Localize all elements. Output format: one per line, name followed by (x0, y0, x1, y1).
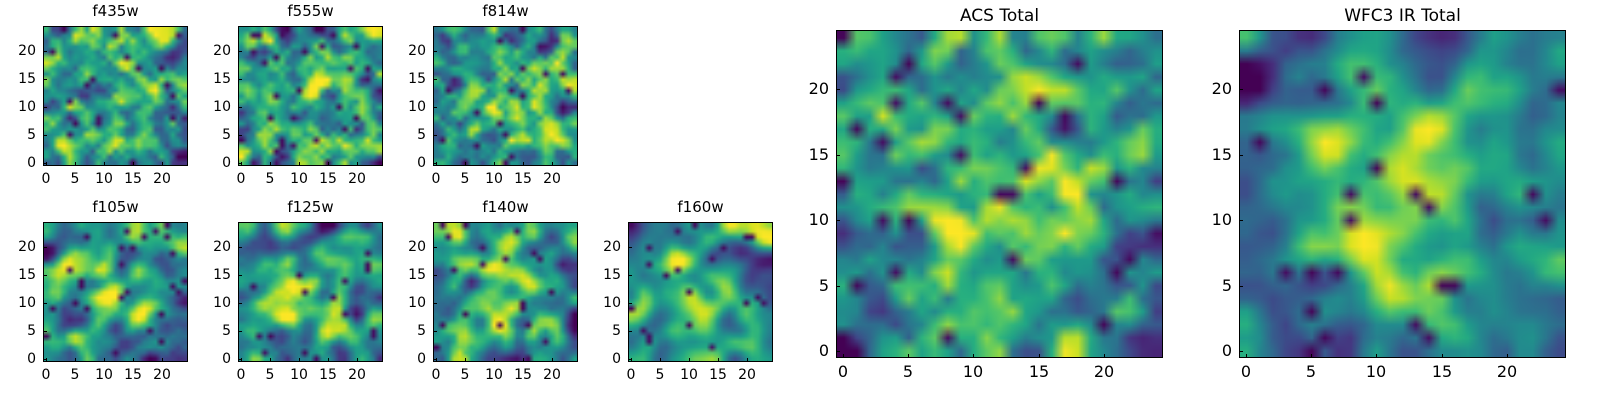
y-tick-label: 15 (588, 268, 621, 282)
panel-f125w: f125w0510152005101520 (198, 198, 383, 386)
y-tick (836, 89, 840, 90)
y-tick-label: 0 (393, 352, 426, 366)
x-tick-label: 15 (709, 368, 727, 382)
y-tick-label: 0 (3, 352, 36, 366)
y-tick (238, 331, 242, 332)
y-tick-label: 5 (3, 324, 36, 338)
y-tick (433, 275, 437, 276)
x-tick (523, 162, 524, 166)
panel-wfc3-ir-total: WFC3 IR Total0510152005101520 (1199, 6, 1566, 382)
y-tick-label: 20 (588, 240, 621, 254)
y-tick-label: 5 (393, 128, 426, 142)
x-tick-label: 10 (963, 364, 983, 380)
y-tick (43, 275, 47, 276)
panel-acs-total: ACS Total0510152005101520 (796, 6, 1163, 382)
heatmap-image-f105w (44, 223, 187, 361)
x-tick (1311, 354, 1312, 358)
heatmap-axes-f814w[interactable] (433, 26, 578, 166)
x-tick (1507, 354, 1508, 358)
x-tick (270, 162, 271, 166)
y-tick-label: 10 (1199, 212, 1232, 228)
x-tick-label: 0 (1241, 364, 1251, 380)
y-tick (433, 331, 437, 332)
x-tick-label: 15 (514, 172, 532, 186)
panel-title-f814w: f814w (433, 4, 578, 19)
x-tick (908, 354, 909, 358)
y-tick (43, 331, 47, 332)
y-tick (238, 275, 242, 276)
y-tick-label: 5 (3, 128, 36, 142)
x-tick-label: 10 (290, 368, 308, 382)
y-tick-label: 0 (3, 156, 36, 170)
x-tick-label: 20 (543, 172, 561, 186)
x-tick-label: 20 (348, 172, 366, 186)
y-tick-label: 5 (198, 324, 231, 338)
heatmap-image-f125w (239, 223, 382, 361)
x-tick (1246, 354, 1247, 358)
y-tick-label: 10 (393, 100, 426, 114)
x-tick (104, 358, 105, 362)
y-tick (433, 51, 437, 52)
panel-f555w: f555w0510152005101520 (198, 2, 383, 190)
y-tick (1239, 155, 1243, 156)
heatmap-axes-wfc3-ir-total[interactable] (1239, 30, 1566, 358)
x-tick (328, 162, 329, 166)
heatmap-image-f435w (44, 27, 187, 165)
y-tick-label: 0 (198, 156, 231, 170)
y-tick-label: 0 (1199, 343, 1232, 359)
x-tick-label: 0 (432, 368, 441, 382)
x-tick-label: 5 (266, 368, 275, 382)
panel-f105w: f105w0510152005101520 (3, 198, 188, 386)
y-tick-label: 15 (3, 72, 36, 86)
x-tick-label: 5 (71, 172, 80, 186)
y-tick-label: 20 (393, 44, 426, 58)
y-tick-label: 15 (796, 147, 829, 163)
panel-title-wfc3-ir-total: WFC3 IR Total (1239, 8, 1566, 25)
y-tick (43, 303, 47, 304)
x-tick (162, 358, 163, 362)
y-tick-label: 10 (198, 296, 231, 310)
x-tick-label: 0 (627, 368, 636, 382)
x-tick-label: 5 (71, 368, 80, 382)
heatmap-axes-acs-total[interactable] (836, 30, 1163, 358)
x-tick-label: 0 (432, 172, 441, 186)
y-tick-label: 10 (198, 100, 231, 114)
x-tick (494, 162, 495, 166)
x-tick-label: 15 (319, 172, 337, 186)
panel-title-f105w: f105w (43, 200, 188, 215)
x-tick (552, 358, 553, 362)
y-tick (628, 247, 632, 248)
y-tick (238, 359, 242, 360)
y-tick-label: 0 (393, 156, 426, 170)
y-tick (433, 359, 437, 360)
heatmap-image-f140w (434, 223, 577, 361)
y-tick (43, 79, 47, 80)
heatmap-image-wfc3-ir-total (1240, 31, 1565, 357)
x-tick-label: 15 (1432, 364, 1452, 380)
y-tick-label: 0 (198, 352, 231, 366)
y-tick-label: 5 (393, 324, 426, 338)
panel-title-f125w: f125w (238, 200, 383, 215)
x-tick (104, 162, 105, 166)
y-tick-label: 5 (588, 324, 621, 338)
x-tick (465, 358, 466, 362)
x-tick (328, 358, 329, 362)
x-tick (1039, 354, 1040, 358)
y-tick (628, 359, 632, 360)
x-tick-label: 5 (1306, 364, 1316, 380)
x-tick-label: 0 (42, 172, 51, 186)
x-tick (523, 358, 524, 362)
y-tick (836, 286, 840, 287)
y-tick (238, 303, 242, 304)
y-tick (628, 303, 632, 304)
heatmap-image-f160w (629, 223, 772, 361)
x-tick-label: 10 (290, 172, 308, 186)
y-tick (836, 351, 840, 352)
y-tick-label: 0 (588, 352, 621, 366)
x-tick (1376, 354, 1377, 358)
y-tick (238, 247, 242, 248)
y-tick (1239, 220, 1243, 221)
figure-canvas: f435w0510152005101520f555w05101520051015… (0, 0, 1600, 400)
x-tick (75, 162, 76, 166)
x-tick (1104, 354, 1105, 358)
x-tick-label: 20 (153, 368, 171, 382)
y-tick (43, 107, 47, 108)
heatmap-axes-f435w[interactable] (43, 26, 188, 166)
x-tick (133, 162, 134, 166)
panel-f814w: f814w0510152005101520 (393, 2, 578, 190)
panel-title-f160w: f160w (628, 200, 773, 215)
y-tick-label: 15 (1199, 147, 1232, 163)
y-tick (43, 359, 47, 360)
x-tick (1442, 354, 1443, 358)
y-tick-label: 20 (3, 240, 36, 254)
x-tick (843, 354, 844, 358)
y-tick (836, 155, 840, 156)
x-tick (357, 358, 358, 362)
y-tick-label: 5 (1199, 278, 1232, 294)
x-tick (494, 358, 495, 362)
x-tick (133, 358, 134, 362)
y-tick (1239, 286, 1243, 287)
x-tick-label: 0 (42, 368, 51, 382)
x-tick-label: 15 (319, 368, 337, 382)
x-tick (660, 358, 661, 362)
y-tick (238, 163, 242, 164)
x-tick-label: 0 (838, 364, 848, 380)
panel-f160w: f160w0510152005101520 (588, 198, 773, 386)
x-tick-label: 0 (237, 172, 246, 186)
y-tick-label: 10 (588, 296, 621, 310)
x-tick (299, 358, 300, 362)
y-tick (836, 220, 840, 221)
x-tick (689, 358, 690, 362)
y-tick (43, 163, 47, 164)
x-tick (162, 162, 163, 166)
x-tick-label: 5 (656, 368, 665, 382)
x-tick-label: 10 (1366, 364, 1386, 380)
y-tick-label: 15 (393, 72, 426, 86)
x-tick (357, 162, 358, 166)
x-tick-label: 10 (95, 172, 113, 186)
y-tick-label: 10 (3, 100, 36, 114)
heatmap-image-acs-total (837, 31, 1162, 357)
y-tick (43, 135, 47, 136)
y-tick-label: 20 (198, 44, 231, 58)
y-tick-label: 20 (1199, 81, 1232, 97)
y-tick (433, 163, 437, 164)
x-tick-label: 0 (237, 368, 246, 382)
y-tick-label: 20 (198, 240, 231, 254)
y-tick (1239, 351, 1243, 352)
y-tick-label: 10 (796, 212, 829, 228)
x-tick (299, 162, 300, 166)
x-tick-label: 10 (485, 172, 503, 186)
x-tick-label: 20 (1094, 364, 1114, 380)
x-tick (718, 358, 719, 362)
panel-title-f555w: f555w (238, 4, 383, 19)
x-tick (973, 354, 974, 358)
y-tick-label: 15 (198, 72, 231, 86)
y-tick-label: 5 (796, 278, 829, 294)
x-tick-label: 15 (1029, 364, 1049, 380)
x-tick (270, 358, 271, 362)
y-tick (628, 275, 632, 276)
panel-f140w: f140w0510152005101520 (393, 198, 578, 386)
x-tick-label: 5 (461, 172, 470, 186)
y-tick-label: 0 (796, 343, 829, 359)
y-tick (433, 303, 437, 304)
x-tick-label: 20 (348, 368, 366, 382)
y-tick-label: 20 (3, 44, 36, 58)
x-tick-label: 10 (485, 368, 503, 382)
panel-title-acs-total: ACS Total (836, 8, 1163, 25)
heatmap-axes-f160w[interactable] (628, 222, 773, 362)
y-tick-label: 5 (198, 128, 231, 142)
y-tick-label: 15 (198, 268, 231, 282)
y-tick (433, 107, 437, 108)
y-tick-label: 20 (393, 240, 426, 254)
x-tick-label: 15 (124, 172, 142, 186)
heatmap-axes-f105w[interactable] (43, 222, 188, 362)
panel-title-f140w: f140w (433, 200, 578, 215)
x-tick-label: 20 (738, 368, 756, 382)
panel-f435w: f435w0510152005101520 (3, 2, 188, 190)
heatmap-axes-f555w[interactable] (238, 26, 383, 166)
x-tick-label: 20 (1497, 364, 1517, 380)
y-tick (433, 79, 437, 80)
y-tick-label: 10 (393, 296, 426, 310)
x-tick (747, 358, 748, 362)
heatmap-axes-f125w[interactable] (238, 222, 383, 362)
x-tick-label: 15 (514, 368, 532, 382)
y-tick-label: 15 (3, 268, 36, 282)
x-tick-label: 10 (680, 368, 698, 382)
heatmap-image-f814w (434, 27, 577, 165)
y-tick (1239, 89, 1243, 90)
y-tick-label: 10 (3, 296, 36, 310)
heatmap-axes-f140w[interactable] (433, 222, 578, 362)
panel-title-f435w: f435w (43, 4, 188, 19)
y-tick (433, 247, 437, 248)
y-tick (43, 247, 47, 248)
x-tick (75, 358, 76, 362)
x-tick-label: 20 (153, 172, 171, 186)
x-tick-label: 5 (461, 368, 470, 382)
x-tick-label: 5 (266, 172, 275, 186)
y-tick (238, 79, 242, 80)
y-tick (43, 51, 47, 52)
y-tick (433, 135, 437, 136)
heatmap-image-f555w (239, 27, 382, 165)
x-tick-label: 15 (124, 368, 142, 382)
x-tick-label: 5 (903, 364, 913, 380)
y-tick (238, 51, 242, 52)
x-tick-label: 10 (95, 368, 113, 382)
y-tick (238, 135, 242, 136)
x-tick (465, 162, 466, 166)
x-tick (552, 162, 553, 166)
x-tick-label: 20 (543, 368, 561, 382)
y-tick (238, 107, 242, 108)
y-tick-label: 15 (393, 268, 426, 282)
y-tick (628, 331, 632, 332)
y-tick-label: 20 (796, 81, 829, 97)
